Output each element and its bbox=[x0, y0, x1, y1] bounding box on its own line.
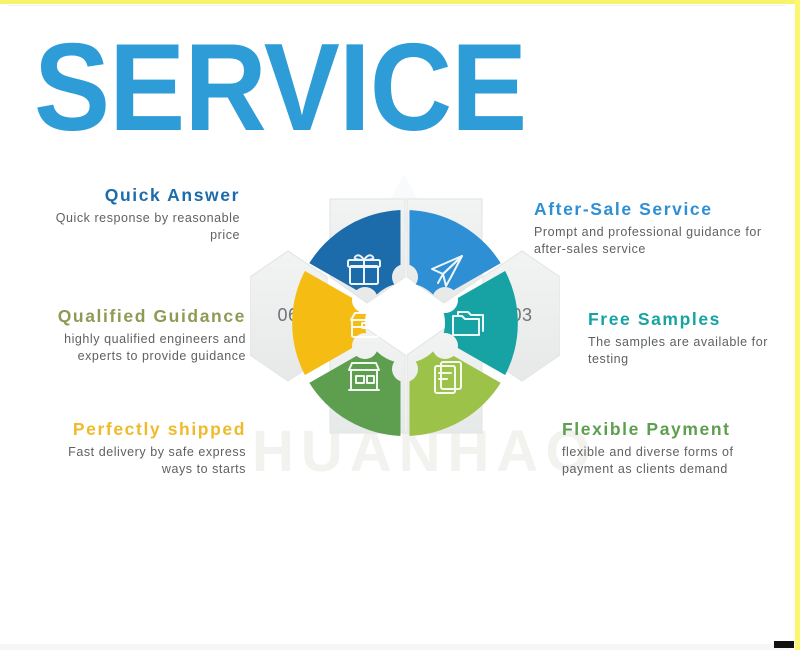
toolbox-icon bbox=[351, 308, 379, 337]
resize-handle[interactable] bbox=[774, 641, 794, 648]
gift-icon bbox=[348, 255, 380, 284]
item-heading: Quick Answer bbox=[40, 184, 240, 207]
top-border bbox=[0, 0, 800, 4]
item-perfectly-shipped[interactable]: Perfectly shipped Fast delivery by safe … bbox=[48, 418, 246, 478]
paper-plane-icon bbox=[432, 256, 462, 286]
storefront-icon bbox=[349, 363, 379, 390]
page-title: SERVICE bbox=[34, 18, 526, 158]
item-body: The samples are available for testing bbox=[588, 334, 783, 368]
right-border bbox=[795, 0, 800, 650]
cards-stack-icon bbox=[435, 362, 461, 393]
item-quick-answer[interactable]: Quick Answer Quick response by reasonabl… bbox=[40, 184, 240, 244]
item-heading: Qualified Guidance bbox=[24, 305, 246, 328]
item-heading: Free Samples bbox=[588, 308, 783, 331]
infographic-canvas: SERVICE HUANHAO bbox=[0, 0, 800, 650]
item-body: flexible and diverse forms of payment as… bbox=[562, 444, 784, 478]
item-heading: After-Sale Service bbox=[534, 198, 774, 221]
item-free-samples[interactable]: Free Samples The samples are available f… bbox=[588, 308, 783, 368]
item-qualified-guidance[interactable]: Qualified Guidance highly qualified engi… bbox=[24, 305, 246, 365]
item-after-sale-service[interactable]: After-Sale Service Prompt and profession… bbox=[534, 198, 774, 258]
bottom-shade bbox=[0, 644, 790, 650]
item-heading: Flexible Payment bbox=[562, 418, 784, 441]
inner-hairline bbox=[8, 5, 786, 6]
hexagon-wheel-stage: 01 02 03 04 05 06 bbox=[250, 185, 560, 485]
item-body: Fast delivery by safe express ways to st… bbox=[48, 444, 246, 478]
folder-icon bbox=[453, 312, 483, 335]
item-flexible-payment[interactable]: Flexible Payment flexible and diverse fo… bbox=[562, 418, 784, 478]
item-heading: Perfectly shipped bbox=[48, 418, 246, 441]
item-body: Prompt and professional guidance for aft… bbox=[534, 224, 774, 258]
wheel-icon-layer bbox=[292, 210, 518, 436]
item-body: highly qualified engineers and experts t… bbox=[24, 331, 246, 365]
item-body: Quick response by reasonable price bbox=[40, 210, 240, 244]
